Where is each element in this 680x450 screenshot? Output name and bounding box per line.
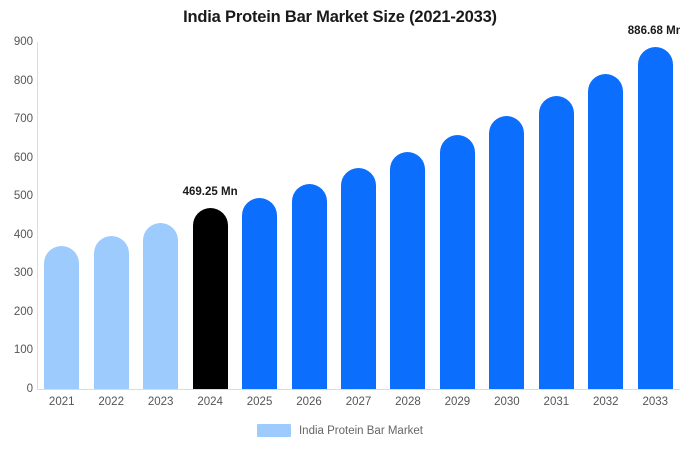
bar-2030[interactable] — [489, 116, 524, 389]
x-axis-tick-2023: 2023 — [148, 396, 174, 408]
bar-2022[interactable] — [94, 236, 129, 389]
legend-label-india-protein-bar-market: India Protein Bar Market — [299, 425, 423, 437]
x-axis-tick-2027: 2027 — [346, 396, 372, 408]
legend-swatch-india-protein-bar-market — [257, 424, 291, 437]
x-axis-tick-2026: 2026 — [296, 396, 322, 408]
bar-2028[interactable] — [390, 152, 425, 389]
x-axis-tick-2025: 2025 — [247, 396, 273, 408]
x-axis-tick-2033: 2033 — [642, 396, 668, 408]
x-axis-tick-2021: 2021 — [49, 396, 75, 408]
chart-legend: India Protein Bar Market — [0, 424, 680, 437]
bar-2023[interactable] — [143, 223, 178, 389]
bar-2033[interactable] — [638, 47, 673, 389]
x-axis-tick-2030: 2030 — [494, 396, 520, 408]
bar-2021[interactable] — [44, 246, 79, 389]
x-axis-tick-2031: 2031 — [544, 396, 570, 408]
data-label-2024: 469.25 Mn — [183, 186, 238, 198]
x-axis-tick-2022: 2022 — [98, 396, 124, 408]
bars-layer: 2021202220232024469.25 Mn202520262027202… — [0, 0, 680, 450]
data-label-2033: 886.68 Mn — [628, 25, 680, 37]
chart-container: India Protein Bar Market Size (2021-2033… — [0, 0, 680, 450]
x-axis-tick-2032: 2032 — [593, 396, 619, 408]
bar-2029[interactable] — [440, 135, 475, 389]
bar-2024[interactable] — [193, 208, 228, 389]
x-axis-tick-2024: 2024 — [197, 396, 223, 408]
bar-2031[interactable] — [539, 96, 574, 389]
bar-2027[interactable] — [341, 168, 376, 389]
bar-2026[interactable] — [292, 184, 327, 389]
bar-2032[interactable] — [588, 74, 623, 389]
x-axis-tick-2029: 2029 — [445, 396, 471, 408]
x-axis-tick-2028: 2028 — [395, 396, 421, 408]
bar-2025[interactable] — [242, 198, 277, 389]
